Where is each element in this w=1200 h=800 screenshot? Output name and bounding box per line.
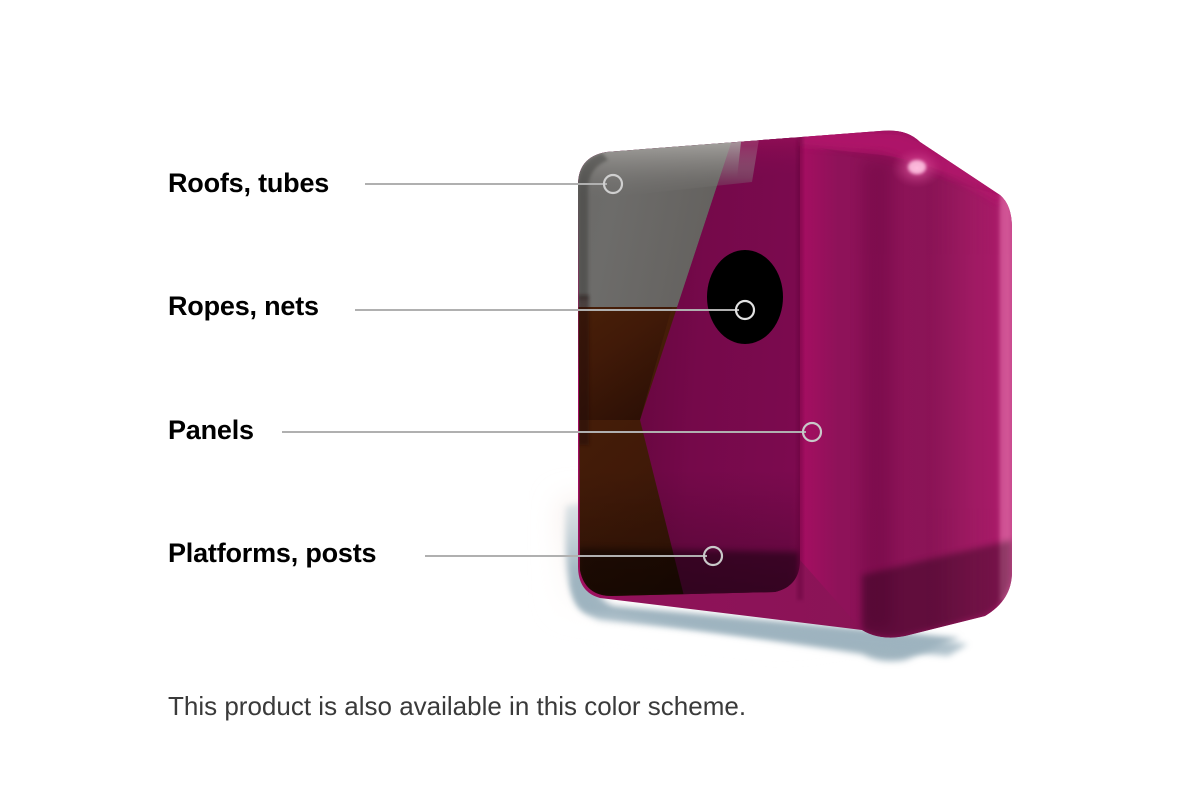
callout-label-panels: Panels	[168, 417, 254, 444]
black-ellipse	[707, 250, 783, 344]
availability-caption: This product is also available in this c…	[168, 691, 746, 722]
callout-label-ropes-nets: Ropes, nets	[168, 293, 319, 320]
callout-label-roofs-tubes: Roofs, tubes	[168, 170, 329, 197]
callout-label-platforms-posts: Platforms, posts	[168, 540, 376, 567]
illustration-canvas: Roofs, tubes Ropes, nets Panels Platform…	[0, 0, 1200, 800]
product-body	[560, 110, 1040, 670]
product-illustration	[0, 0, 1200, 800]
